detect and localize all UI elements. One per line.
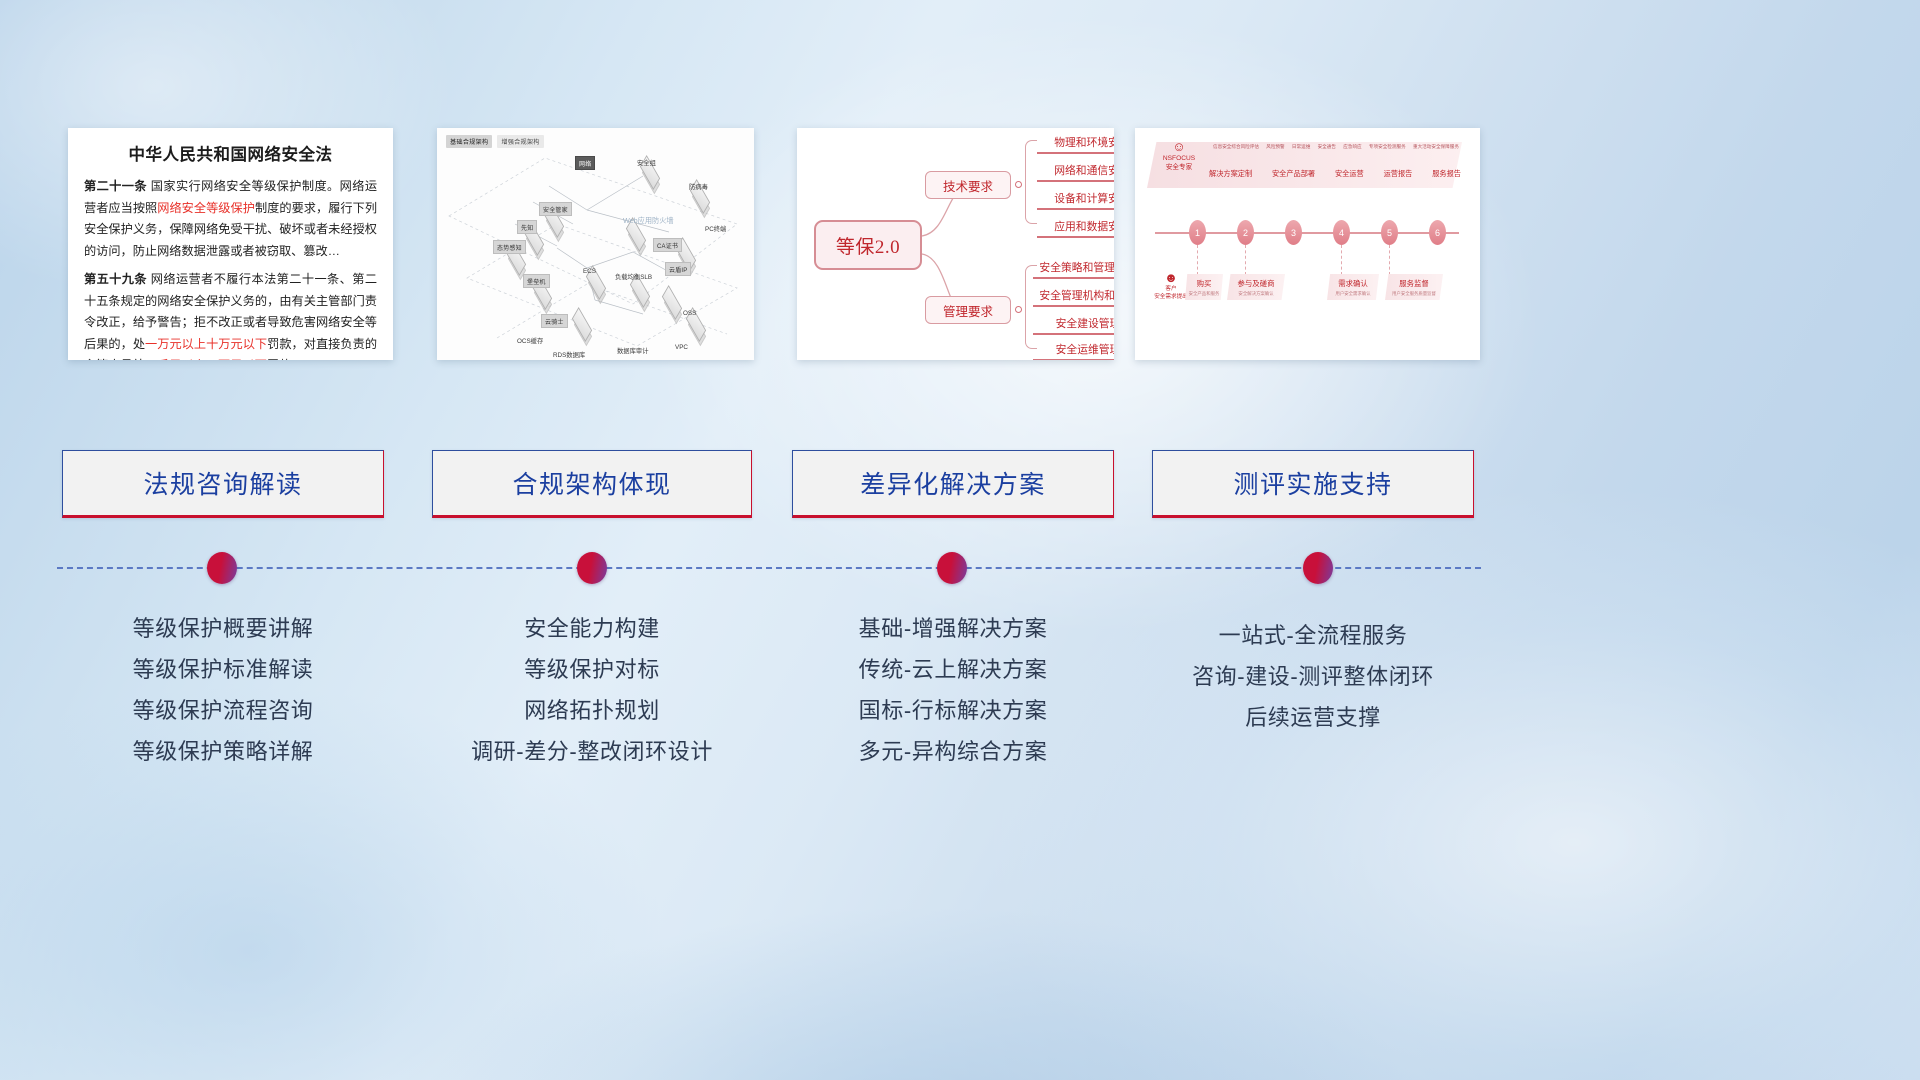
- banner-item: 安全通告: [1318, 144, 1336, 150]
- nsfocus-step-node: 5: [1381, 220, 1398, 245]
- nsfocus-leg: [1197, 245, 1198, 275]
- arch-label: OSS: [683, 310, 696, 317]
- arch-label: ECS: [583, 268, 596, 275]
- law-article-21-label: 第二十一条: [84, 179, 147, 193]
- list-item: 传统-云上解决方案: [792, 649, 1114, 690]
- arch-label: 先知: [517, 220, 537, 234]
- tag-sub: 安全产品和服务: [1185, 291, 1223, 297]
- mindmap-branch-management: 管理要求: [925, 296, 1011, 324]
- arch-node-shape: [503, 252, 531, 272]
- arch-label: 安全组: [637, 158, 656, 167]
- arch-node-shape: [583, 276, 611, 296]
- mindmap-bracket-technical: [1025, 140, 1037, 224]
- nsfocus-expert-block: ☺ NSFOCUS 安全专家: [1151, 140, 1207, 172]
- nsfocus-step-node: 3: [1285, 220, 1302, 245]
- nsfocus-tag: 服务监督 用户安全服务质量监督: [1385, 274, 1443, 300]
- nsfocus-tag: 购买 安全产品和服务: [1185, 274, 1223, 300]
- list-item: 后续运营支撑: [1152, 697, 1474, 738]
- banner-item: 信息安全综合风险评估: [1213, 144, 1259, 150]
- law-p2-highlight-2: 五千元以上五万元以下: [145, 358, 267, 360]
- timeline-marker-3[interactable]: [937, 552, 967, 584]
- nsfocus-phase-row: 解决方案定制 安全产品部署 安全运营 运营报告 服务报告: [1209, 169, 1461, 179]
- nsfocus-step-node: 2: [1237, 220, 1254, 245]
- list-regulation-consulting: 等级保护概要讲解 等级保护标准解读 等级保护流程咨询 等级保护策略详解: [62, 608, 384, 772]
- banner-item: 专项安全检测服务: [1369, 144, 1406, 150]
- nsfocus-expert-role: 安全专家: [1151, 163, 1207, 172]
- law-article-59-label: 第五十九条: [84, 272, 147, 286]
- nsfocus-diagram: ☺ NSFOCUS 安全专家 信息安全综合风险评估 风险预警 日常运维 安全通告…: [1135, 128, 1480, 360]
- law-paragraph-59: 第五十九条 网络运营者不履行本法第二十一条、第二十五条规定的网络安全保护义务的，…: [84, 269, 377, 360]
- nsfocus-leg: [1245, 245, 1246, 275]
- title-box-assessment-support[interactable]: 测评实施支持: [1152, 450, 1474, 518]
- law-p2-text-after: 罚款。: [267, 358, 304, 360]
- list-item: 等级保护流程咨询: [62, 690, 384, 731]
- card-mindmap-dengbao: 等保2.0 技术要求 物理和环境安全 网络和通信安全 设备和计算安全 应用和数据…: [797, 128, 1114, 360]
- mindmap-leaf: 网络和通信安全: [1037, 162, 1114, 182]
- arch-node-shape: [541, 214, 569, 234]
- arch-node-shape: [529, 286, 557, 306]
- mindmap-leaf: 设备和计算安全: [1037, 190, 1114, 210]
- phase-label: 解决方案定制: [1209, 169, 1252, 179]
- law-p1-highlight: 网络安全等级保护: [157, 201, 255, 215]
- nsfocus-brand: NSFOCUS: [1151, 154, 1207, 163]
- arch-label: PC终端: [705, 224, 726, 233]
- mindmap-node-dot: [1015, 306, 1022, 313]
- list-item: 等级保护对标: [432, 649, 752, 690]
- timeline-dashed-line: [57, 567, 1481, 569]
- list-item: 安全能力构建: [432, 608, 752, 649]
- list-item: 网络拓扑规划: [432, 690, 752, 731]
- list-item: 国标-行标解决方案: [792, 690, 1114, 731]
- mindmap-leaf: 安全建设管理: [1033, 315, 1114, 335]
- arch-label: 态势感知: [493, 240, 526, 254]
- arch-node-shape: [637, 166, 665, 186]
- arch-label: 负载均衡SLB: [615, 272, 652, 281]
- timeline-marker-4[interactable]: [1303, 552, 1333, 584]
- arch-label: 安全管家: [539, 202, 572, 216]
- arch-node-shape: [687, 190, 715, 210]
- banner-item: 应急响应: [1343, 144, 1361, 150]
- list-item: 多元-异构综合方案: [792, 731, 1114, 772]
- list-differentiated-solution: 基础-增强解决方案 传统-云上解决方案 国标-行标解决方案 多元-异构综合方案: [792, 608, 1114, 772]
- list-item: 等级保护策略详解: [62, 731, 384, 772]
- tag-sub: 安全解决方案确认: [1227, 291, 1285, 297]
- arch-label: 网络: [575, 156, 595, 170]
- arch-label: 云盾IP: [665, 262, 691, 276]
- tag-title: 参与及磋商: [1227, 278, 1285, 289]
- nsfocus-step-node: 1: [1189, 220, 1206, 245]
- list-item: 一站式-全流程服务: [1152, 615, 1474, 656]
- mindmap-diagram: 等保2.0 技术要求 物理和环境安全 网络和通信安全 设备和计算安全 应用和数据…: [797, 128, 1114, 360]
- list-item: 等级保护标准解读: [62, 649, 384, 690]
- law-document: 中华人民共和国网络安全法 第二十一条 国家实行网络安全等级保护制度。网络运营者应…: [68, 128, 393, 360]
- nsfocus-banner-items: 信息安全综合风险评估 风险预警 日常运维 安全通告 应急响应 专项安全检测服务 …: [1213, 144, 1459, 150]
- law-title: 中华人民共和国网络安全法: [84, 141, 377, 165]
- mindmap-leaf: 应用和数据安全: [1037, 218, 1114, 238]
- nsfocus-step-node: 6: [1429, 220, 1446, 245]
- title-text: 合规架构体现: [512, 465, 671, 501]
- card-row: 中华人民共和国网络安全法 第二十一条 国家实行网络安全等级保护制度。网络运营者应…: [0, 128, 1920, 360]
- title-box-regulation-consulting[interactable]: 法规咨询解读: [62, 450, 384, 518]
- arch-label: RDS数据库: [553, 350, 585, 359]
- arch-label: 云骑士: [541, 314, 568, 328]
- phase-label: 安全运营: [1335, 169, 1364, 179]
- tag-sub: 用户安全服务质量监督: [1385, 291, 1443, 297]
- architecture-diagram: 基础合规架构 增强合规架构: [437, 128, 754, 360]
- title-text: 差异化解决方案: [860, 465, 1046, 501]
- list-assessment-support: 一站式-全流程服务 咨询-建设-测评整体闭环 后续运营支撑: [1152, 615, 1474, 738]
- arch-label: Web应用防火墙: [623, 216, 674, 226]
- mindmap-leaf: 安全策略和管理制度: [1033, 259, 1114, 279]
- phase-label: 服务报告: [1432, 169, 1461, 179]
- arch-label: 堡垒机: [523, 274, 550, 288]
- card-compliance-architecture: 基础合规架构 增强合规架构: [437, 128, 754, 360]
- title-text: 测评实施支持: [1233, 465, 1392, 501]
- tag-sub: 用户安全需求确认: [1327, 291, 1379, 297]
- customer-person-icon: ☻: [1149, 271, 1193, 285]
- expert-person-icon: ☺: [1151, 140, 1207, 154]
- tag-title: 需求确认: [1327, 278, 1379, 289]
- title-text: 法规咨询解读: [143, 465, 302, 501]
- tag-title: 购买: [1185, 278, 1223, 289]
- nsfocus-step-node: 4: [1333, 220, 1350, 245]
- arch-label: OCS缓存: [517, 336, 543, 345]
- card-nsfocus-service-timeline: ☺ NSFOCUS 安全专家 信息安全综合风险评估 风险预警 日常运维 安全通告…: [1135, 128, 1480, 360]
- arch-node-shape: [623, 228, 651, 248]
- card-cybersecurity-law: 中华人民共和国网络安全法 第二十一条 国家实行网络安全等级保护制度。网络运营者应…: [68, 128, 393, 360]
- list-item: 调研-差分-整改闭环设计: [432, 731, 752, 772]
- arch-label: VPC: [675, 344, 688, 351]
- mindmap-leaf: 安全运维管理: [1033, 341, 1114, 360]
- list-item: 咨询-建设-测评整体闭环: [1152, 656, 1474, 697]
- timeline-marker-1[interactable]: [207, 552, 237, 584]
- law-p2-highlight-1: 一万元以上十万元以下: [145, 337, 267, 351]
- title-box-differentiated-solution[interactable]: 差异化解决方案: [792, 450, 1114, 518]
- arch-node-shape: [627, 284, 655, 304]
- list-item: 等级保护概要讲解: [62, 608, 384, 649]
- list-compliance-architecture: 安全能力构建 等级保护对标 网络拓扑规划 调研-差分-整改闭环设计: [432, 608, 752, 772]
- arch-node-shape: [569, 318, 597, 338]
- banner-item: 日常运维: [1292, 144, 1310, 150]
- mindmap-branch-technical: 技术要求: [925, 171, 1011, 199]
- mindmap-node-dot: [1015, 181, 1022, 188]
- nsfocus-leg: [1341, 245, 1342, 275]
- mindmap-leaf: 安全管理机构和人员: [1033, 287, 1114, 307]
- banner-item: 风险预警: [1266, 144, 1284, 150]
- mindmap-root: 等保2.0: [814, 220, 922, 270]
- law-paragraph-21: 第二十一条 国家实行网络安全等级保护制度。网络运营者应当按照网络安全等级保护制度…: [84, 176, 377, 262]
- nsfocus-leg: [1389, 245, 1390, 275]
- nsfocus-tag: 参与及磋商 安全解决方案确认: [1227, 274, 1285, 300]
- tag-title: 服务监督: [1385, 278, 1443, 289]
- arch-node-shape: [683, 318, 711, 338]
- phase-label: 安全产品部署: [1272, 169, 1315, 179]
- phase-label: 运营报告: [1384, 169, 1413, 179]
- arch-label: 数据库审计: [617, 346, 648, 355]
- timeline-marker-2[interactable]: [577, 552, 607, 584]
- list-item: 基础-增强解决方案: [792, 608, 1114, 649]
- banner-item: 重大活动安全保障服务: [1413, 144, 1459, 150]
- nsfocus-tag: 需求确认 用户安全需求确认: [1327, 274, 1379, 300]
- arch-label: CA证书: [653, 238, 682, 252]
- arch-label: 防病毒: [689, 182, 708, 191]
- mindmap-leaf: 物理和环境安全: [1037, 134, 1114, 154]
- title-box-compliance-architecture[interactable]: 合规架构体现: [432, 450, 752, 518]
